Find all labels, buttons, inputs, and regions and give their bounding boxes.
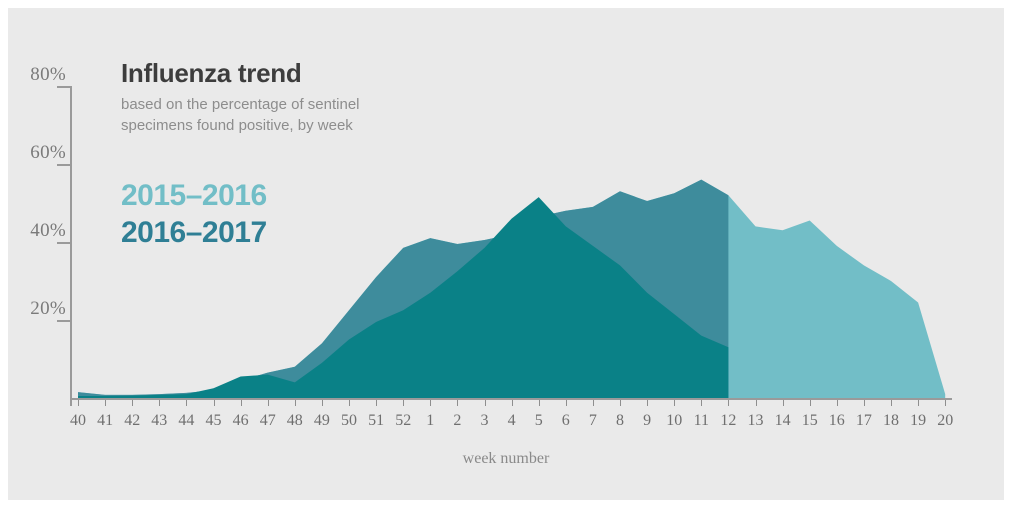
area-chart <box>70 58 950 406</box>
x-axis-tick <box>728 400 729 406</box>
y-axis-tick <box>57 242 70 244</box>
x-axis-tick <box>430 400 431 406</box>
y-axis-tick-label: 20% <box>8 298 66 318</box>
x-axis-tick <box>457 400 458 406</box>
x-axis-tick <box>512 400 513 406</box>
x-axis-tick <box>349 400 350 406</box>
x-axis-tick-label: 20 <box>928 412 962 430</box>
x-axis-tick <box>295 400 296 406</box>
x-axis-tick <box>864 400 865 406</box>
y-axis-tick-label-text: 20% <box>30 298 66 320</box>
y-axis-tick-label-text: 80% <box>30 64 66 86</box>
x-axis-tick <box>159 400 160 406</box>
y-axis-tick-label-text: 60% <box>30 142 66 164</box>
plot-area <box>70 58 950 406</box>
x-axis-tick <box>214 400 215 406</box>
x-axis-tick <box>322 400 323 406</box>
x-axis-tick <box>810 400 811 406</box>
x-axis-tick <box>674 400 675 406</box>
x-axis-tick <box>268 400 269 406</box>
x-axis-tick <box>945 400 946 406</box>
x-axis-tick <box>105 400 106 406</box>
y-axis-tick-label: 80% <box>8 64 66 84</box>
y-axis-tick-label: 60% <box>8 142 66 162</box>
x-axis-tick <box>701 400 702 406</box>
x-axis-tick <box>593 400 594 406</box>
x-axis-tick <box>837 400 838 406</box>
x-axis-tick <box>647 400 648 406</box>
x-axis-tick <box>891 400 892 406</box>
y-axis-tick <box>57 86 70 88</box>
chart-figure: Influenza trend based on the percentage … <box>8 8 1004 500</box>
x-axis-tick <box>376 400 377 406</box>
x-axis-tick <box>566 400 567 406</box>
x-axis-tick <box>485 400 486 406</box>
x-axis-tick <box>756 400 757 406</box>
x-axis-tick <box>132 400 133 406</box>
x-axis-tick <box>186 400 187 406</box>
x-axis-tick <box>783 400 784 406</box>
y-axis-tick-label: 40% <box>8 220 66 240</box>
y-axis-tick <box>57 164 70 166</box>
x-axis-tick <box>620 400 621 406</box>
x-axis-tick <box>241 400 242 406</box>
x-axis-tick <box>78 400 79 406</box>
x-axis-tick <box>403 400 404 406</box>
x-axis-caption: week number <box>8 450 1004 468</box>
x-axis-tick <box>918 400 919 406</box>
x-axis-tick <box>539 400 540 406</box>
y-axis-tick-label-text: 40% <box>30 220 66 242</box>
y-axis-tick <box>57 320 70 322</box>
